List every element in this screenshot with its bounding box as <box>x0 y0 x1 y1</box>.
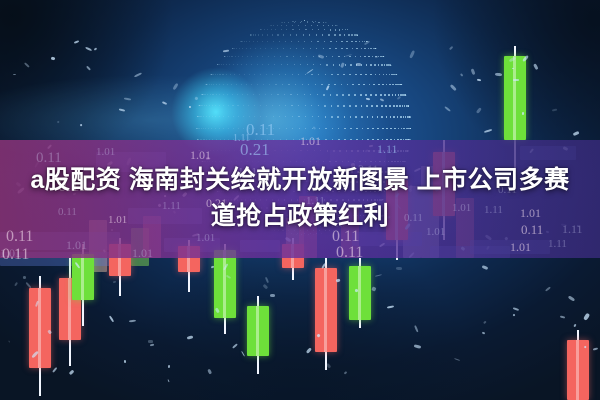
headline-text: a股配资 海南封关绘就开放新图景 上市公司多赛 道抢占政策红利 <box>0 162 600 234</box>
price-number: 1.11 <box>377 142 398 157</box>
price-number: 1.01 <box>96 146 115 158</box>
banner-image: 0.110.111.010.111.011.010.110.111.011.01… <box>0 0 600 400</box>
price-number: 1.01 <box>190 148 211 163</box>
headline-line-2: 道抢占政策红利 <box>0 198 600 234</box>
price-number: 0.11 <box>336 244 363 262</box>
price-number: 1.11 <box>233 133 250 144</box>
price-number: 1.01 <box>300 134 321 149</box>
price-number: 1.01 <box>66 238 87 253</box>
price-number: 1.01 <box>132 246 153 261</box>
headline-line-1: a股配资 海南封关绘就开放新图景 上市公司多赛 <box>30 166 569 194</box>
price-number: 1.01 <box>510 240 531 255</box>
price-number: 1.11 <box>548 238 567 250</box>
price-number: 1.01 <box>0 246 21 261</box>
price-number: 0.11 <box>246 120 275 140</box>
